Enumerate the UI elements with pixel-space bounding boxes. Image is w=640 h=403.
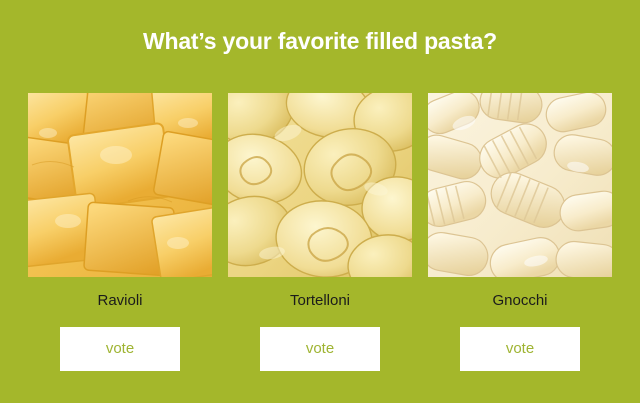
poll-option-label: Gnocchi: [492, 291, 547, 311]
vote-button-tortelloni[interactable]: vote: [260, 327, 380, 371]
poll-options-row: Ravioli vote: [28, 93, 612, 371]
pasta-poll-card: What’s your favorite filled pasta?: [0, 0, 640, 403]
page-title: What’s your favorite filled pasta?: [0, 27, 640, 55]
gnocchi-photo[interactable]: [428, 93, 612, 277]
poll-option-tortelloni: Tortelloni vote: [228, 93, 412, 371]
poll-option-ravioli: Ravioli vote: [28, 93, 212, 371]
vote-button-ravioli[interactable]: vote: [60, 327, 180, 371]
ravioli-photo[interactable]: [28, 93, 212, 277]
poll-option-label: Ravioli: [97, 291, 142, 311]
tortelloni-photo[interactable]: [228, 93, 412, 277]
vote-button-gnocchi[interactable]: vote: [460, 327, 580, 371]
poll-option-gnocchi: Gnocchi vote: [428, 93, 612, 371]
poll-option-label: Tortelloni: [290, 291, 350, 311]
